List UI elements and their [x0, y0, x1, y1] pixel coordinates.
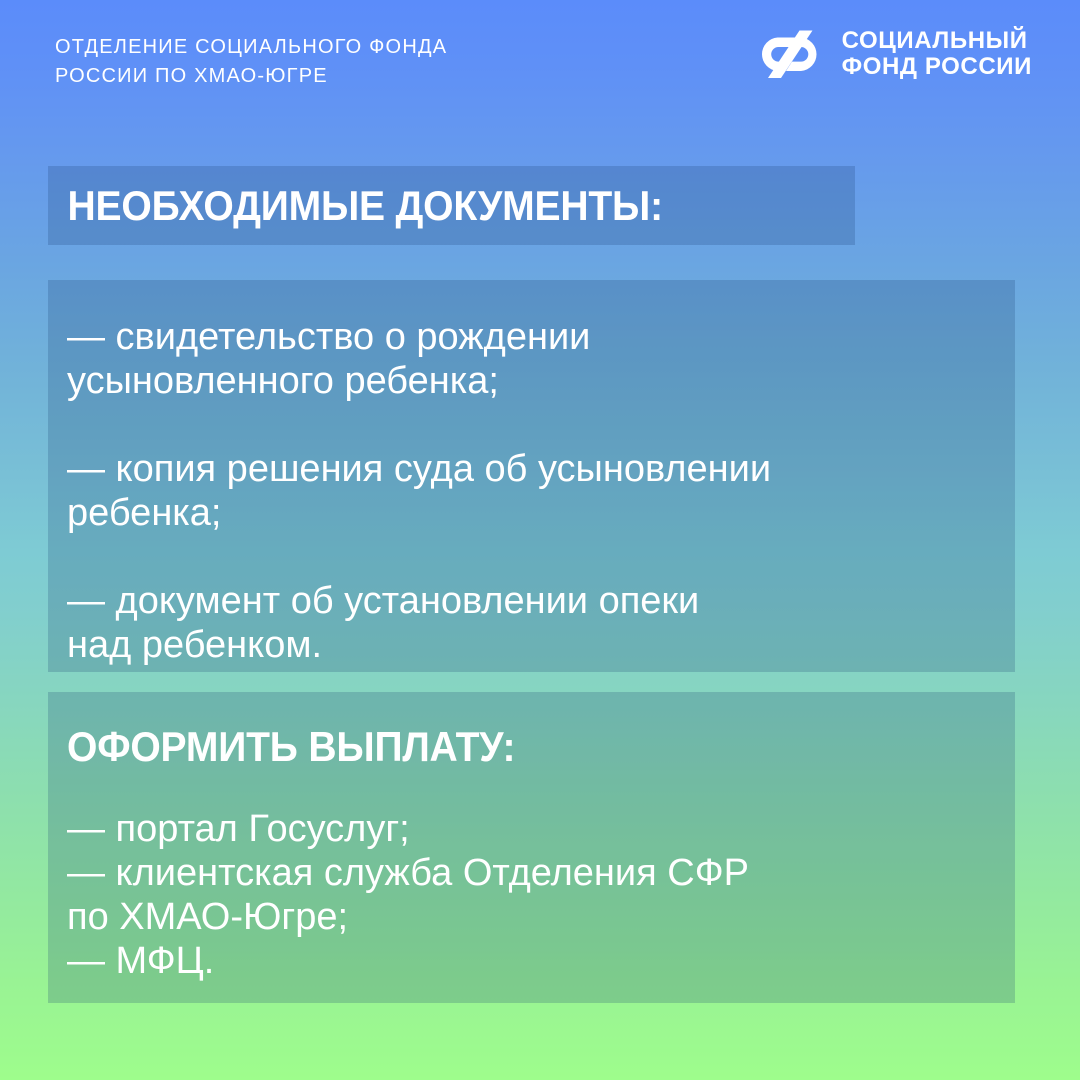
document-item: — документ об установлении опеки над реб…: [67, 579, 1015, 667]
documents-heading-bar: НЕОБХОДИМЫЕ ДОКУМЕНТЫ:: [48, 166, 855, 245]
organization-title: ОТДЕЛЕНИЕ СОЦИАЛЬНОГО ФОНДА РОССИИ ПО ХМ…: [55, 33, 447, 91]
documents-panel: — свидетельство о рождении усыновленного…: [48, 280, 1015, 672]
sfr-logo-wordmark: СОЦИАЛЬНЫЙ ФОНД РОССИИ: [842, 28, 1032, 80]
documents-heading: НЕОБХОДИМЫЕ ДОКУМЕНТЫ:: [48, 183, 663, 229]
apply-channels-list: — портал Госуслуг; — клиентская служба О…: [67, 807, 1015, 983]
sfr-monogram-logo-icon: [755, 26, 825, 82]
apply-heading: ОФОРМИТЬ ВЫПЛАТУ:: [67, 724, 949, 770]
apply-panel: ОФОРМИТЬ ВЫПЛАТУ: — портал Госуслуг; — к…: [48, 692, 1015, 1003]
document-item: — свидетельство о рождении усыновленного…: [67, 315, 1015, 403]
page-header: ОТДЕЛЕНИЕ СОЦИАЛЬНОГО ФОНДА РОССИИ ПО ХМ…: [0, 0, 1080, 120]
document-item: — копия решения суда об усыновлении ребе…: [67, 447, 1015, 535]
sfr-logo-lockup: СОЦИАЛЬНЫЙ ФОНД РОССИИ: [755, 26, 1032, 82]
